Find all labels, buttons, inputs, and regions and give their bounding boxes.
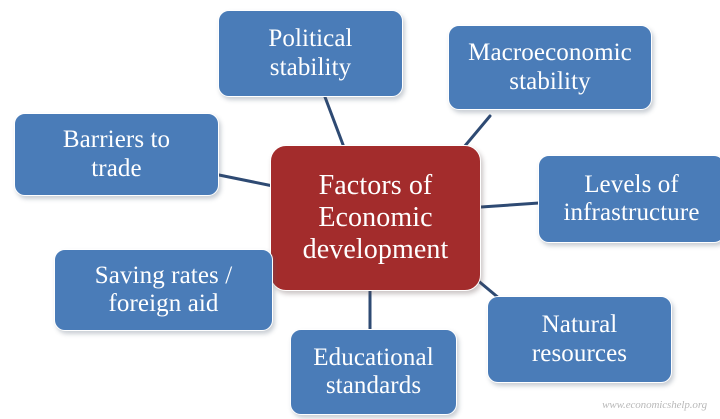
connector-political-stability-to-center — [325, 97, 345, 150]
node-educational-standards[interactable]: Educational standards — [290, 329, 457, 415]
node-label-saving-rates-foreign-aid: Saving rates / foreign aid — [61, 262, 266, 319]
center-node-label: Factors of Economic development — [279, 170, 472, 266]
node-label-educational-standards: Educational standards — [297, 344, 450, 401]
node-political-stability[interactable]: Political stability — [218, 10, 403, 97]
node-label-natural-resources: Natural resources — [494, 311, 665, 368]
watermark-text: www.economicshelp.org — [602, 399, 707, 411]
node-label-macroeconomic-stability: Macroeconomic stability — [455, 39, 645, 96]
diagram-canvas: Factors of Economic development Politica… — [0, 0, 720, 419]
node-saving-rates-foreign-aid[interactable]: Saving rates / foreign aid — [54, 249, 273, 331]
connector-barriers-to-trade-to-center — [219, 175, 273, 186]
node-label-political-stability: Political stability — [225, 25, 396, 82]
node-label-levels-of-infrastructure: Levels of infrastructure — [545, 171, 718, 228]
node-natural-resources[interactable]: Natural resources — [487, 296, 672, 383]
node-levels-of-infrastructure[interactable]: Levels of infrastructure — [538, 155, 720, 243]
node-label-barriers-to-trade: Barriers to trade — [21, 126, 212, 183]
connector-levels-of-infrastructure-to-center — [481, 203, 539, 207]
node-barriers-to-trade[interactable]: Barriers to trade — [14, 113, 219, 196]
node-macroeconomic-stability[interactable]: Macroeconomic stability — [448, 25, 652, 110]
center-node-factors-of-economic-development[interactable]: Factors of Economic development — [270, 145, 481, 291]
